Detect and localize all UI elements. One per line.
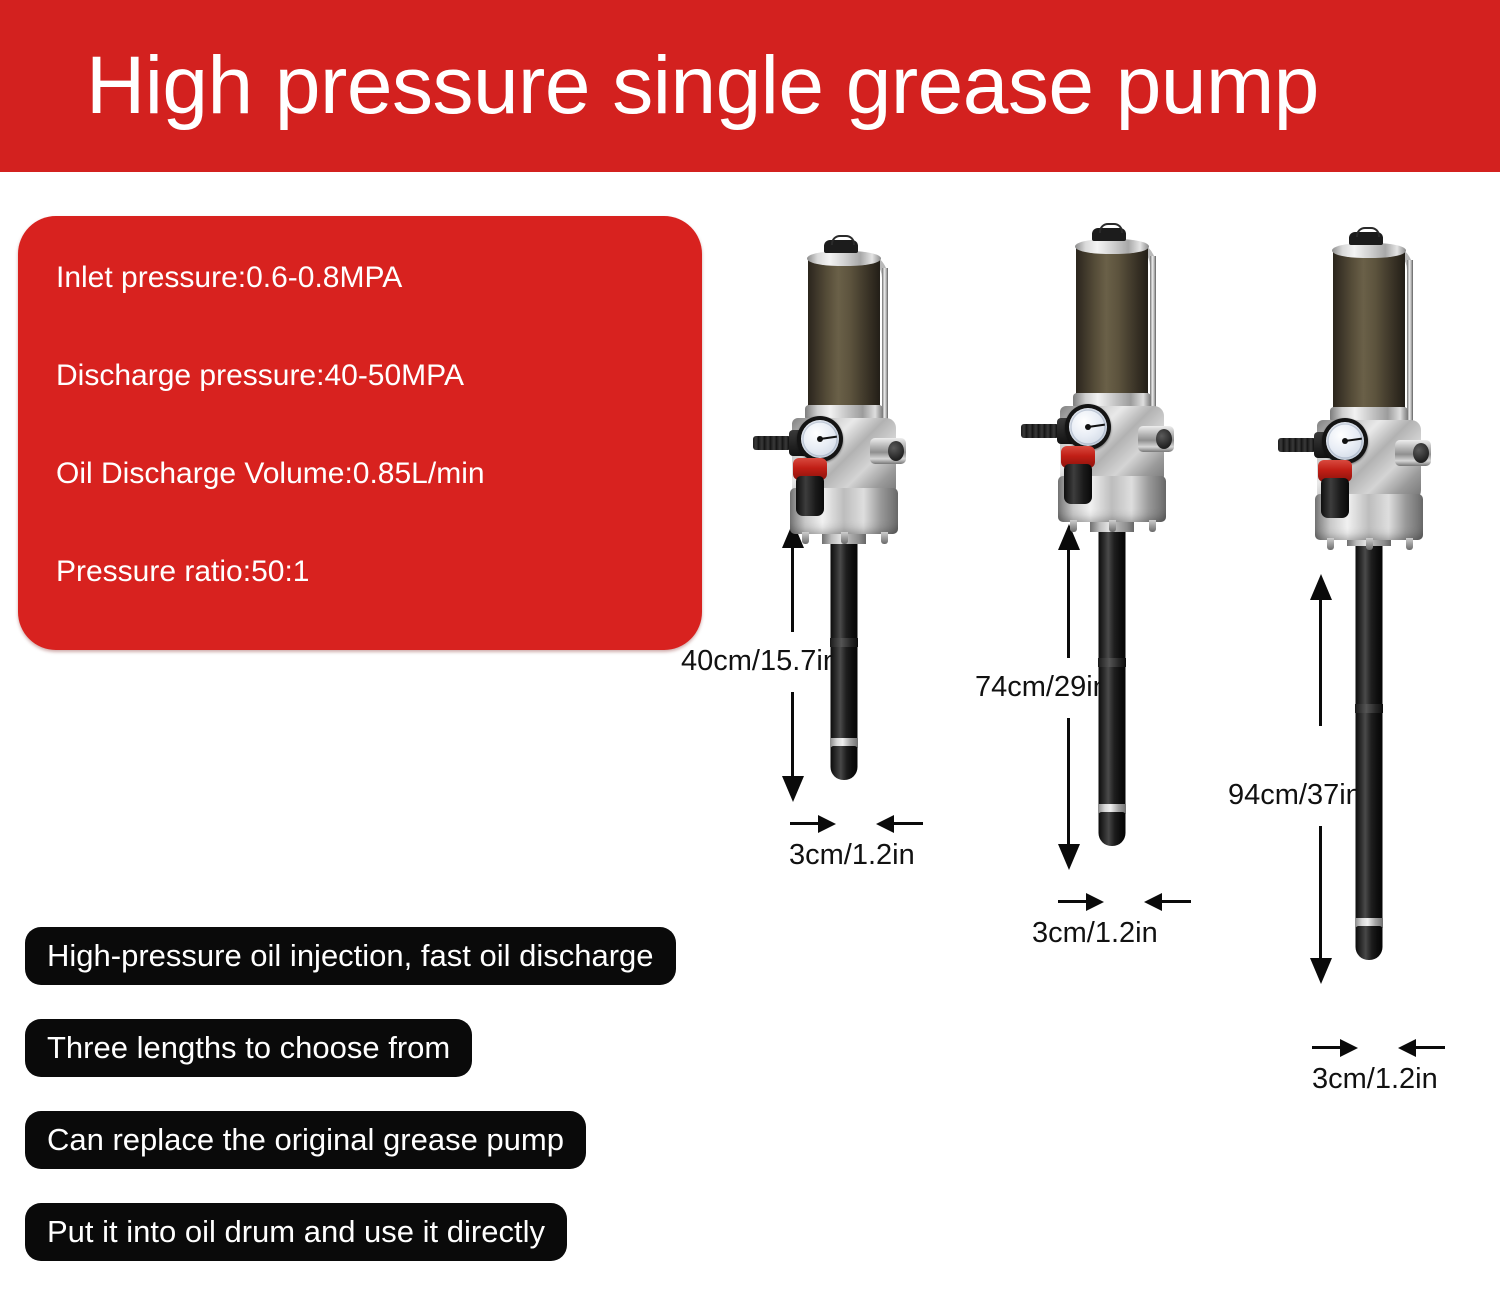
collar-bolt <box>1149 520 1156 532</box>
feature-pill-high-pressure-injection: High-pressure oil injection, fast oil di… <box>25 927 676 985</box>
gauge-face <box>1069 408 1107 446</box>
regulator-knob <box>1064 464 1092 504</box>
specifications-panel: Inlet pressure:0.6-0.8MPA Discharge pres… <box>18 216 702 650</box>
dim-arrowhead-down <box>1058 844 1080 870</box>
motor-body <box>1333 252 1405 412</box>
dim-line-horizontal <box>1415 1046 1445 1049</box>
dim-arrowhead-down <box>1310 958 1332 984</box>
collar-bolt <box>881 532 888 544</box>
spec-oil-discharge-volume: Oil Discharge Volume:0.85L/min <box>56 456 682 492</box>
pressure-gauge <box>797 416 843 462</box>
tube-joint <box>1098 658 1126 667</box>
dim-arrowhead-right <box>1340 1039 1358 1057</box>
dimension-length-pump-long: 94cm/37in <box>1228 778 1362 812</box>
air-inlet-barb-icon <box>1021 424 1059 438</box>
collar-bolt <box>1109 520 1116 532</box>
feature-pill-replace-original: Can replace the original grease pump <box>25 1111 586 1169</box>
gauge-face <box>1326 422 1364 460</box>
infographic-page: High pressure single grease pump Inlet p… <box>0 0 1500 1298</box>
tube-foot-tip <box>831 746 858 780</box>
dim-arrowhead-right <box>818 815 836 833</box>
motor-cap-ring <box>1075 239 1149 254</box>
regulator-knob <box>1321 478 1349 518</box>
tube-foot-tip <box>1356 926 1383 960</box>
dim-arrowhead-right <box>1086 893 1104 911</box>
spec-pressure-ratio: Pressure ratio:50:1 <box>56 554 682 590</box>
dim-line-horizontal <box>1161 900 1191 903</box>
gauge-hub <box>1342 438 1348 444</box>
dim-arrowhead-up <box>1310 574 1332 600</box>
grease-outlet-port <box>1138 426 1174 452</box>
dim-line-horizontal <box>1058 900 1088 903</box>
dim-arrowhead-down <box>782 776 804 802</box>
dim-line-vertical <box>1067 718 1070 846</box>
dim-arrowhead-left <box>1144 893 1162 911</box>
tube-foot-tip <box>1099 812 1126 846</box>
gauge-face <box>801 420 839 458</box>
spec-inlet-pressure: Inlet pressure:0.6-0.8MPA <box>56 260 682 296</box>
motor-vent-fitting <box>1092 228 1126 241</box>
dim-line-vertical <box>1319 826 1322 960</box>
pressure-gauge <box>1065 404 1111 450</box>
feature-pill-three-lengths: Three lengths to choose from <box>25 1019 472 1077</box>
specifications-list: Inlet pressure:0.6-0.8MPA Discharge pres… <box>56 260 682 590</box>
dim-line-vertical <box>791 546 794 632</box>
dim-arrowhead-left <box>876 815 894 833</box>
tube-joint <box>1355 704 1383 713</box>
dim-line-vertical <box>791 692 794 778</box>
product-image-pump-medium <box>1013 228 1193 908</box>
motor-vent-fitting <box>824 240 858 253</box>
header-banner: High pressure single grease pump <box>0 0 1500 172</box>
motor-cap-ring <box>807 251 881 266</box>
motor-body <box>808 260 880 410</box>
regulator-knob <box>796 476 824 516</box>
collar-bolt <box>802 532 809 544</box>
feature-pill-use-directly: Put it into oil drum and use it directly <box>25 1203 567 1261</box>
grease-outlet-port <box>1395 440 1431 466</box>
dim-arrowhead-left <box>1398 1039 1416 1057</box>
spec-discharge-pressure: Discharge pressure:40-50MPA <box>56 358 682 394</box>
motor-body <box>1076 248 1148 398</box>
dimension-diameter-pump-long: 3cm/1.2in <box>1312 1062 1438 1096</box>
collar-bolt <box>1327 538 1334 550</box>
dimension-length-pump-short: 40cm/15.7in <box>681 644 839 678</box>
motor-vent-fitting <box>1349 232 1383 245</box>
motor-cap-ring <box>1332 243 1406 258</box>
air-inlet-barb-icon <box>1278 438 1316 452</box>
collar-bolt <box>841 532 848 544</box>
dimension-length-pump-medium: 74cm/29in <box>975 670 1109 704</box>
pressure-gauge <box>1322 418 1368 464</box>
air-inlet-barb-icon <box>753 436 791 450</box>
product-image-pump-long <box>1270 232 1450 1022</box>
grease-outlet-port <box>870 438 906 464</box>
dim-line-vertical <box>1067 548 1070 658</box>
suction-tube <box>1099 518 1126 818</box>
dim-line-horizontal <box>790 822 820 825</box>
collar-bolt <box>1070 520 1077 532</box>
gauge-hub <box>817 436 823 442</box>
dim-line-horizontal <box>893 822 923 825</box>
dim-line-vertical <box>1319 598 1322 726</box>
page-title: High pressure single grease pump <box>86 30 1446 142</box>
suction-tube <box>1356 536 1383 932</box>
gauge-hub <box>1085 424 1091 430</box>
tube-joint <box>830 638 858 647</box>
dim-line-horizontal <box>1312 1046 1342 1049</box>
collar-bolt <box>1406 538 1413 550</box>
collar-bolt <box>1366 538 1373 550</box>
dimension-diameter-pump-medium: 3cm/1.2in <box>1032 916 1158 950</box>
product-image-pump-short <box>745 240 925 840</box>
dimension-diameter-pump-short: 3cm/1.2in <box>789 838 915 872</box>
